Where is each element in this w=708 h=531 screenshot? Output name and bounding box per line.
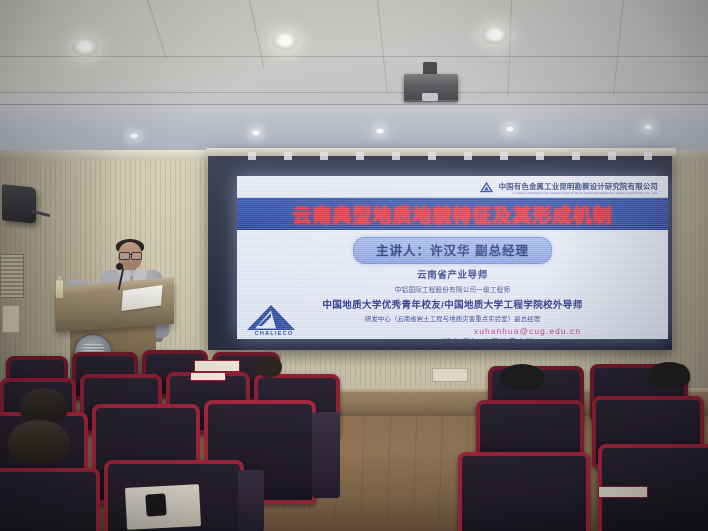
ceiling-projector: [404, 74, 458, 102]
presenter-glasses: [119, 252, 142, 258]
company-line: 中铝国际工程股份有限公司一级工程师: [237, 284, 668, 294]
chalieco-caption: CHALIECO: [245, 331, 303, 337]
wall-notice-sign: [432, 368, 468, 382]
wall-panel-plate: [2, 305, 20, 333]
wall-mounted-speaker: [2, 184, 36, 224]
air-conditioner-vent: [0, 254, 24, 298]
cove-spotlight: [374, 127, 386, 135]
audience-head: [500, 364, 544, 390]
kpdi-triangle-logo: [479, 181, 494, 193]
cove-spotlight: [250, 129, 262, 137]
slide-title: 云南典型地质地貌特征及其形成机制: [292, 201, 612, 228]
cove-spotlight: [128, 132, 140, 140]
speaker-line: 主讲人：许汉华 副总经理: [376, 244, 529, 258]
slide-title-band: 云南典型地质地貌特征及其形成机制: [237, 198, 668, 230]
seat-armrest: [312, 412, 340, 498]
slide-header-org-sub: KUNMING PROSPECTING DESIGN INSTITUTE OF …: [513, 191, 658, 195]
slide-body: 主讲人：许汉华 副总经理 云南省产业导师 中铝国际工程股份有限公司一级工程师 中…: [237, 230, 668, 339]
glasses-lens-right: [131, 252, 142, 260]
seat-armrest: [238, 470, 264, 531]
ceiling-downlight: [482, 26, 508, 44]
projected-slide: 中国有色金属工业昆明勘察设计研究院有限公司 KUNMING PROSPECTIN…: [237, 176, 668, 339]
ceiling: [0, 0, 708, 152]
ceiling-downlight: [272, 32, 298, 50]
cove-spotlight: [504, 125, 516, 133]
cove-spotlight: [642, 123, 654, 131]
seat-label-tag: [194, 360, 240, 372]
seat-label-tag: [190, 372, 226, 381]
audience-head: [8, 420, 70, 464]
slide-header: 中国有色金属工业昆明勘察设计研究院有限公司 KUNMING PROSPECTIN…: [237, 176, 668, 198]
microphone-head: [116, 263, 123, 270]
mentor-line: 云南省产业导师: [237, 267, 668, 281]
phone-on-desk: [145, 493, 166, 516]
chalieco-logo: CHALIECO: [245, 304, 303, 339]
seat-label-tag: [598, 486, 648, 498]
seat-row-front-left: [0, 468, 100, 531]
speaker-pill: 主讲人：许汉华 副总经理: [353, 237, 552, 264]
audience-head: [648, 362, 690, 388]
ceiling-downlight: [72, 38, 98, 56]
audience-head: [20, 388, 68, 424]
lecture-hall-photo: 中国有色金属工业昆明勘察设计研究院有限公司 KUNMING PROSPECTIN…: [0, 0, 708, 531]
audience-head: [256, 356, 282, 378]
seat-row-front-right: [458, 452, 590, 531]
water-bottle: [56, 280, 63, 298]
screen-top-clips: [220, 152, 660, 160]
